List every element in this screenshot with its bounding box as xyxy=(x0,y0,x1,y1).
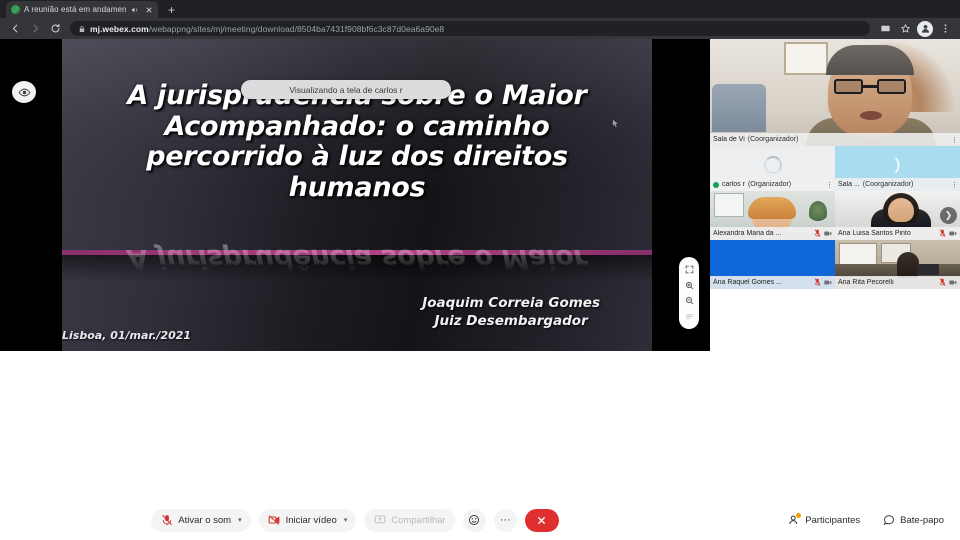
new-tab-button[interactable]: + xyxy=(163,1,180,18)
star-icon[interactable] xyxy=(895,19,915,38)
participant-role: (Coorganizador) xyxy=(863,181,914,188)
person-head xyxy=(888,198,914,222)
tile-label: Ana Rita Pecorelli xyxy=(835,276,960,289)
participant-name: Alexandra Maria da ... xyxy=(713,230,781,237)
account-avatar-icon[interactable] xyxy=(917,21,933,37)
zoom-level-icon[interactable] xyxy=(684,311,695,322)
person-hair xyxy=(826,45,914,75)
participant-tile[interactable]: Ana Raquel Gomes ... xyxy=(710,240,835,289)
cast-icon[interactable] xyxy=(875,19,895,38)
tile-label: carlos r (Organizador) ⋮ xyxy=(710,178,835,191)
tile-label: Sala ... (Coorganizador) ⋮ xyxy=(835,178,960,191)
person-body xyxy=(897,252,919,278)
viewing-screen-banner: Visualizando a tela de carlos r xyxy=(241,80,451,99)
chair-decor xyxy=(712,84,766,132)
forward-arrow-icon[interactable] xyxy=(25,19,45,38)
participants-label: Participantes xyxy=(805,515,860,526)
chat-button[interactable]: Bate-papo xyxy=(874,509,952,532)
audio-only-icon: ) xyxy=(895,156,901,173)
whiteboard-decor xyxy=(839,243,877,266)
mic-muted-icon xyxy=(814,229,821,238)
mic-muted-icon xyxy=(814,278,821,287)
participants-button[interactable]: Participantes xyxy=(779,509,868,532)
participant-tile[interactable]: carlos r (Organizador) ⋮ xyxy=(710,146,835,191)
participant-name: Sala ... xyxy=(838,181,860,188)
fit-to-screen-icon[interactable] xyxy=(684,264,695,275)
three-dot-menu-icon[interactable] xyxy=(935,19,955,38)
mic-muted-icon xyxy=(939,229,946,238)
browser-window: A reunião está em andamen + mj.webex.com… xyxy=(0,0,960,540)
camera-off-icon xyxy=(268,514,281,527)
slide-author: Joaquim Correia Gomes Juiz Desembargador xyxy=(422,294,600,330)
camera-off-icon xyxy=(949,230,957,237)
browser-toolbar: mj.webex.com/webappng/sites/mj/meeting/d… xyxy=(0,18,960,39)
notification-badge xyxy=(796,513,801,518)
url-host: mj.webex.com xyxy=(90,24,149,34)
chevron-down-icon[interactable]: ▾ xyxy=(344,516,348,524)
participants-icon xyxy=(787,514,800,527)
laptop-decor xyxy=(917,264,939,275)
participant-role: (Coorganizador) xyxy=(748,136,799,143)
webex-favicon xyxy=(11,5,20,14)
participant-name: Ana Rita Pecorelli xyxy=(838,279,894,286)
tile-menu-icon[interactable]: ⋮ xyxy=(951,136,957,144)
person-hair xyxy=(748,197,796,219)
tile-label: Ana Raquel Gomes ... xyxy=(710,276,835,289)
tab-strip: A reunião está em andamen + xyxy=(0,0,960,18)
end-call-button[interactable] xyxy=(525,509,559,532)
camera-off-icon xyxy=(824,279,832,286)
back-arrow-icon[interactable] xyxy=(5,19,25,38)
start-video-button[interactable]: Iniciar vídeo ▾ xyxy=(259,509,357,532)
shared-screen-area[interactable]: A jurisprudência sobre o Maior Acompanha… xyxy=(0,39,710,351)
camera-off-icon xyxy=(824,230,832,237)
tab-title: A reunião está em andamen xyxy=(24,5,126,14)
plant-decor xyxy=(809,201,827,223)
slide-place-date: Lisboa, 01/mar./2021 xyxy=(62,329,191,342)
zoom-out-icon[interactable] xyxy=(684,295,695,306)
control-bar-right: Participantes Bate-papo xyxy=(779,500,952,540)
participant-tile[interactable]: Sala de Vi (Coorganizador) ⋮ xyxy=(710,39,960,146)
share-screen-icon xyxy=(373,514,386,527)
camera-off-icon xyxy=(949,279,957,286)
pointer-cursor-icon xyxy=(612,119,619,128)
url-path: /webappng/sites/mj/meeting/download/8504… xyxy=(149,24,444,34)
participant-tile[interactable]: Ana Rita Pecorelli xyxy=(835,240,960,289)
chevron-down-icon[interactable]: ▾ xyxy=(238,516,242,524)
participant-role: (Organizador) xyxy=(748,181,791,188)
control-bar-center: Ativar o som ▾ Iniciar vídeo ▾ Compartil… xyxy=(0,500,710,540)
reload-icon[interactable] xyxy=(45,19,65,38)
participant-name: Ana Raquel Gomes ... xyxy=(713,279,782,286)
slide-title-reflection: A jurisprudência sobre o Maior Acompanha… xyxy=(88,241,626,273)
participant-tile[interactable]: Alexandra Maria da ... xyxy=(710,191,835,240)
slide-title: A jurisprudência sobre o Maior Acompanha… xyxy=(88,81,626,203)
mic-muted-icon xyxy=(939,278,946,287)
chat-label: Bate-papo xyxy=(900,515,944,526)
participant-name: carlos r xyxy=(722,181,745,188)
unmute-label: Ativar o som xyxy=(178,515,231,526)
tile-menu-icon[interactable]: ⋮ xyxy=(826,181,832,189)
tile-menu-icon[interactable]: ⋮ xyxy=(951,181,957,189)
meeting-stage: A jurisprudência sobre o Maior Acompanha… xyxy=(0,39,960,540)
chat-bubble-icon xyxy=(882,514,895,527)
chevron-right-icon[interactable]: ❯ xyxy=(940,207,957,224)
tile-label: Ana Luisa Santos Pinto xyxy=(835,227,960,240)
picture-frame-decor xyxy=(784,42,828,75)
reactions-button[interactable] xyxy=(463,509,486,532)
zoom-in-icon[interactable] xyxy=(684,280,695,291)
participant-grid: Sala de Vi (Coorganizador) ⋮ carlos r (O… xyxy=(710,39,960,289)
browser-tab[interactable]: A reunião está em andamen xyxy=(6,1,158,18)
share-button: Compartilhar xyxy=(364,509,454,532)
participant-tile[interactable]: ) Sala ... (Coorganizador) ⋮ xyxy=(835,146,960,191)
person-glasses xyxy=(834,79,906,94)
mic-muted-icon xyxy=(160,514,173,527)
more-options-button[interactable]: ··· xyxy=(494,509,517,532)
lock-icon xyxy=(78,25,86,33)
tile-label: Alexandra Maria da ... xyxy=(710,227,835,240)
start-video-label: Iniciar vídeo xyxy=(286,515,337,526)
screen-zoom-controls[interactable] xyxy=(679,257,699,329)
unmute-button[interactable]: Ativar o som ▾ xyxy=(151,509,250,532)
window-decor xyxy=(714,193,744,217)
address-bar[interactable]: mj.webex.com/webappng/sites/mj/meeting/d… xyxy=(70,21,870,36)
slide-author-name: Joaquim Correia Gomes xyxy=(422,294,600,312)
person-mouth xyxy=(860,111,882,120)
speaker-icon[interactable] xyxy=(130,5,140,15)
loading-spinner-icon xyxy=(764,156,782,174)
meeting-control-bar: Ativar o som ▾ Iniciar vídeo ▾ Compartil… xyxy=(0,500,960,540)
close-icon[interactable] xyxy=(144,5,154,15)
address-bar-url: mj.webex.com/webappng/sites/mj/meeting/d… xyxy=(90,24,444,34)
slide-author-role: Juiz Desembargador xyxy=(422,312,600,330)
participant-name: Sala de Vi xyxy=(713,136,745,143)
share-label: Compartilhar xyxy=(391,515,445,526)
sharing-indicator-icon xyxy=(713,182,719,188)
participant-name: Ana Luisa Santos Pinto xyxy=(838,230,911,237)
tile-label: Sala de Vi (Coorganizador) ⋮ xyxy=(710,133,960,146)
eye-icon[interactable] xyxy=(12,81,36,103)
